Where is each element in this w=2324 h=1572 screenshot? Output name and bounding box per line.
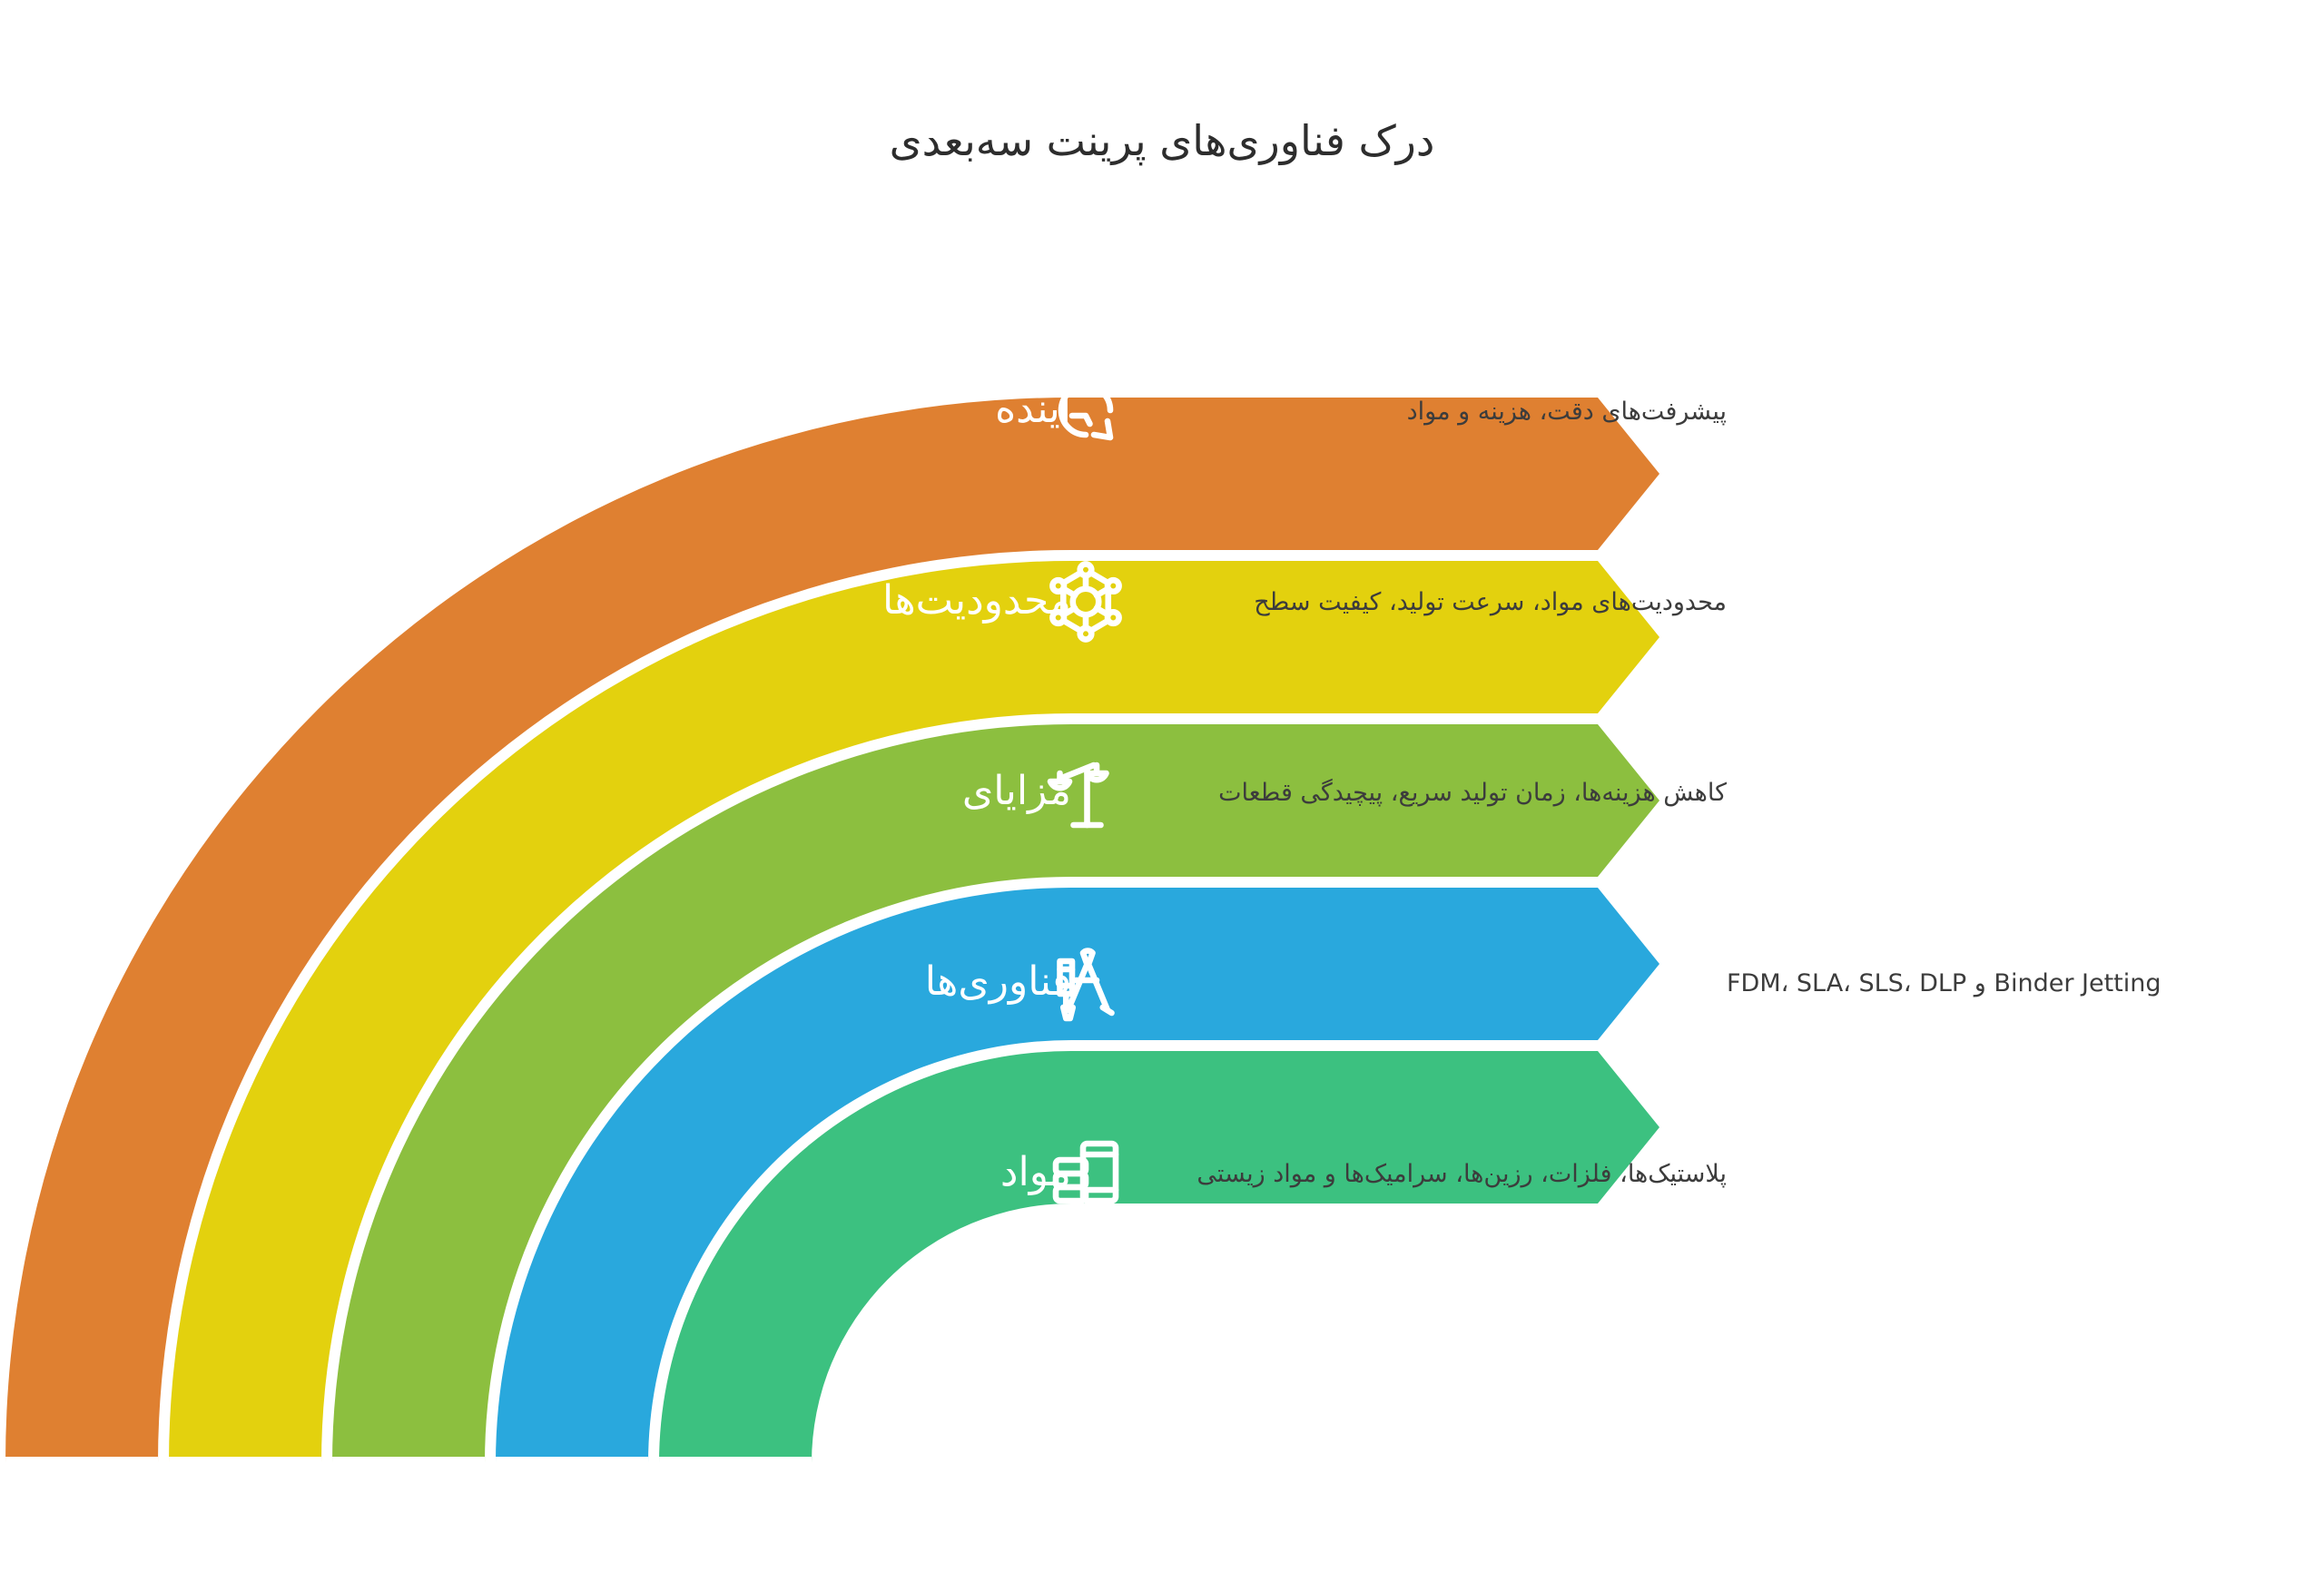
infographic-root: درک فناوری‌های پرینت سه‌بعدی آینده پیشرف… [0,0,2324,1572]
band-description-future: پیشرفت‌های دقت، هزینه و مواد [1407,398,1727,426]
band-description-materials: پلاستیک‌ها، فلزات، رزین‌ها، سرامیک‌ها و … [1196,1160,1727,1188]
band-description-limitations: محدودیت‌های مواد، سرعت تولید، کیفیت سطح [1254,588,1727,616]
compass-divider-icon [1042,939,1129,1027]
molecule-node-icon [1042,558,1129,645]
balance-scale-icon [1042,749,1129,836]
band-description-technologies: FDM، SLA، SLS، DLP و Binder Jetting [1727,969,2162,997]
clock-arrow-icon [1042,367,1129,454]
material-stack-icon [1042,1130,1129,1217]
curved-band-chart [0,0,2324,1572]
band-description-advantages: کاهش هزینه‌ها، زمان تولید سریع، پیچیدگی … [1218,779,1727,807]
